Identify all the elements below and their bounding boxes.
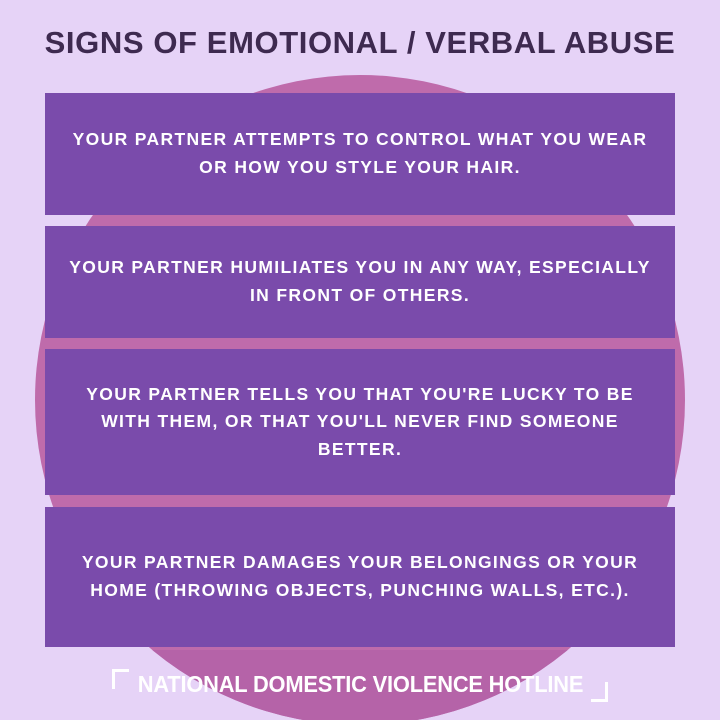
infographic-canvas: SIGNS OF EMOTIONAL / VERBAL ABUSE YOUR P… bbox=[0, 0, 720, 720]
corner-bracket-bottom-right-icon bbox=[591, 682, 608, 702]
statement-text: YOUR PARTNER DAMAGES YOUR BELONGINGS OR … bbox=[69, 549, 651, 604]
footer-logo: NATIONAL DOMESTIC VIOLENCE HOTLINE bbox=[0, 650, 720, 720]
statement-card-control-appearance: YOUR PARTNER ATTEMPTS TO CONTROL WHAT YO… bbox=[45, 93, 675, 215]
statement-list: YOUR PARTNER ATTEMPTS TO CONTROL WHAT YO… bbox=[45, 93, 675, 647]
statement-text: YOUR PARTNER TELLS YOU THAT YOU'RE LUCKY… bbox=[69, 381, 651, 464]
statement-card-lucky-to-be-with-them: YOUR PARTNER TELLS YOU THAT YOU'RE LUCKY… bbox=[45, 349, 675, 495]
corner-bracket-top-left-icon bbox=[112, 669, 129, 689]
logo-lockup: NATIONAL DOMESTIC VIOLENCE HOTLINE bbox=[112, 670, 609, 701]
statement-card-property-damage: YOUR PARTNER DAMAGES YOUR BELONGINGS OR … bbox=[45, 507, 675, 647]
organization-name: NATIONAL DOMESTIC VIOLENCE HOTLINE bbox=[137, 673, 583, 696]
statement-card-humiliation: YOUR PARTNER HUMILIATES YOU IN ANY WAY, … bbox=[45, 226, 675, 338]
statement-text: YOUR PARTNER ATTEMPTS TO CONTROL WHAT YO… bbox=[69, 126, 651, 181]
statement-text: YOUR PARTNER HUMILIATES YOU IN ANY WAY, … bbox=[69, 254, 651, 309]
page-title: SIGNS OF EMOTIONAL / VERBAL ABUSE bbox=[0, 27, 720, 58]
